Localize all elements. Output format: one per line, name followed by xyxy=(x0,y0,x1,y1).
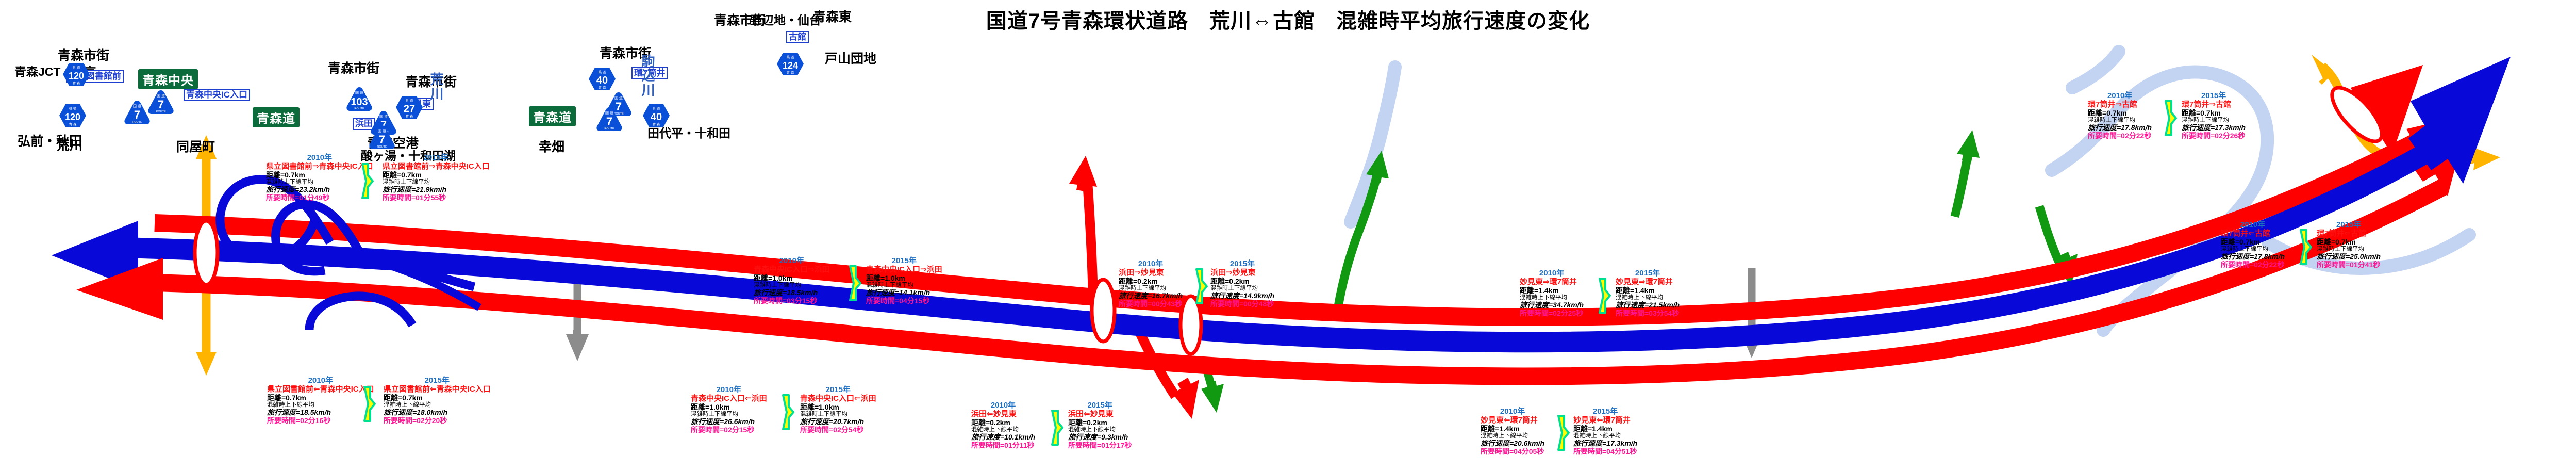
section-toshokan-to-chuo-ic-out-2010: 2010年県立図書館前⇒青森中央IC入口距離=0.7km混雑時上下線平均旅行速度… xyxy=(266,154,373,202)
svg-text:青 森: 青 森 xyxy=(599,85,606,90)
svg-text:40: 40 xyxy=(651,111,662,123)
section-hamada-to-myoken-2015: 2015年浜田⇒妙見東距離=0.2km混雑時上下線平均旅行速度=14.9km/h… xyxy=(1210,260,1274,308)
river-arakawa-label: 荒川 xyxy=(427,72,446,101)
travel-speed-value: 旅行速度=17.8km/h xyxy=(2221,253,2285,261)
year-label: 2015年 xyxy=(2182,92,2246,101)
section-name: 環7筒井⇐古館 xyxy=(2317,230,2381,238)
distance-value: 距離=0.2km xyxy=(1068,419,1132,427)
distance-value: 距離=0.2km xyxy=(1210,278,1274,286)
section-toshokan-from-chuo-ic-in-2010: 2010年県立図書館前⇐青森中央IC入口距離=0.7km混雑時上下線平均旅行速度… xyxy=(267,377,374,425)
shield-route-7-d: 国 道7ROUTE xyxy=(368,124,396,153)
distance-value: 距離=0.2km xyxy=(971,419,1035,427)
svg-text:県 道: 県 道 xyxy=(653,106,660,111)
travel-time-value: 所要時間=02分16秒 xyxy=(267,417,374,425)
travel-speed-value: 旅行速度=16.7km/h xyxy=(1119,292,1183,300)
dest-aomori-shigai-mid1: 青森市街 xyxy=(328,58,379,77)
svg-text:国 道: 国 道 xyxy=(605,110,613,115)
travel-speed-value: 旅行速度=18.5km/h xyxy=(267,409,374,417)
section-name: 妙見東⇐環7筒井 xyxy=(1481,416,1544,425)
distance-value: 距離=0.7km xyxy=(383,171,490,180)
section-myoken-from-kan7-2010: 2010年妙見東⇐環7筒井距離=1.4km混雑時上下線平均旅行速度=20.6km… xyxy=(1481,408,1544,456)
dest-doyacho: 同屋町 xyxy=(176,137,215,155)
year-label: 2015年 xyxy=(384,377,491,385)
travel-speed-value: 旅行速度=34.7km/h xyxy=(1520,301,1584,310)
section-name: 環7筒井⇐古館 xyxy=(2221,230,2285,238)
section-toshokan-to-chuo-ic-out-2015: 2015年県立図書館前⇒青森中央IC入口距離=0.7km混雑時上下線平均旅行速度… xyxy=(383,154,490,202)
travel-speed-value: 旅行速度=21.5km/h xyxy=(1616,301,1680,310)
distance-value: 距離=0.2km xyxy=(1119,278,1183,286)
svg-text:ROUTE: ROUTE xyxy=(132,121,142,124)
section-chuo-ic-from-hamada-transition-arrow-icon xyxy=(782,393,795,434)
section-hamada-from-myoken-transition-arrow-icon xyxy=(1051,409,1064,449)
travel-time-value: 所要時間=03分54秒 xyxy=(1616,310,1680,318)
section-chuo-ic-to-hamada-2015: 2015年青森中央IC入口⇒浜田距離=1.0km混雑時上下線平均旅行速度=14.… xyxy=(866,257,942,305)
section-kan7-to-furudate-2015: 2015年環7筒井⇒古館距離=0.7km混雑時上下線平均旅行速度=17.3km/… xyxy=(2182,92,2246,140)
dest-noheji-sendai: 野辺地・仙台 xyxy=(750,10,821,28)
dest-saihata: 幸畑 xyxy=(539,137,564,155)
section-name: 浜田⇐妙見東 xyxy=(1068,410,1132,419)
svg-text:ROUTE: ROUTE xyxy=(156,110,166,113)
distance-value: 距離=1.0km xyxy=(800,403,876,412)
year-label: 2015年 xyxy=(1210,260,1274,269)
section-name: 妙見東⇒環7筒井 xyxy=(1616,278,1680,287)
travel-time-value: 所要時間=01分17秒 xyxy=(1068,442,1132,450)
svg-text:7: 7 xyxy=(158,98,164,111)
svg-text:7: 7 xyxy=(379,133,385,146)
distance-value: 距離=0.7km xyxy=(2317,238,2381,247)
year-label: 2015年 xyxy=(383,154,490,163)
travel-time-value: 所要時間=03分15秒 xyxy=(754,297,830,305)
travel-time-value: 所要時間=01分55秒 xyxy=(383,194,490,202)
section-name: 妙見東⇐環7筒井 xyxy=(1573,416,1637,425)
section-chuo-ic-to-hamada-transition-arrow-icon xyxy=(849,264,862,305)
distance-value: 距離=0.7km xyxy=(266,171,373,180)
travel-speed-value: 旅行速度=21.9km/h xyxy=(383,186,490,194)
section-myoken-to-kan7-transition-arrow-icon xyxy=(1598,277,1611,317)
section-name: 浜田⇒妙見東 xyxy=(1119,269,1183,278)
distance-value: 距離=1.4km xyxy=(1616,287,1680,295)
travel-time-value: 所要時間=01分11秒 xyxy=(971,442,1035,450)
svg-text:国 道: 国 道 xyxy=(378,128,386,133)
year-label: 2010年 xyxy=(691,386,767,395)
section-name: 青森中央IC入口⇒浜田 xyxy=(754,266,830,274)
shield-route-7-b: 国 道7ROUTE xyxy=(146,89,175,118)
section-hamada-from-myoken-2015: 2015年浜田⇐妙見東距離=0.2km混雑時上下線平均旅行速度=9.3km/h所… xyxy=(1068,401,1132,449)
distance-value: 距離=1.0km xyxy=(866,274,942,283)
travel-time-value: 所要時間=02分20秒 xyxy=(384,417,491,425)
distance-value: 距離=1.4km xyxy=(1573,425,1637,433)
section-name: 妙見東⇒環7筒井 xyxy=(1520,278,1584,287)
section-chuo-ic-to-hamada-2010: 2010年青森中央IC入口⇒浜田距離=1.0km混雑時上下線平均旅行速度=18.… xyxy=(754,257,830,305)
year-label: 2015年 xyxy=(1573,408,1637,416)
section-name: 浜田⇒妙見東 xyxy=(1210,269,1274,278)
diagram-canvas: 国道7号青森環状道路 荒川⇔古館 混雑時平均旅行速度の変化 青森市街青森JCT・… xyxy=(0,0,2576,471)
year-label: 2010年 xyxy=(2088,92,2152,101)
travel-speed-value: 旅行速度=20.6km/h xyxy=(1481,440,1544,448)
year-label: 2010年 xyxy=(1119,260,1183,269)
svg-text:国 道: 国 道 xyxy=(157,93,165,98)
badge-aomori-do-2: 青森道 xyxy=(529,106,576,126)
section-chuo-ic-from-hamada-2015: 2015年青森中央IC入口⇐浜田距離=1.0km混雑時上下線平均旅行速度=20.… xyxy=(800,386,876,434)
section-kan7-from-furudate-transition-arrow-icon xyxy=(2299,228,2313,269)
distance-value: 距離=0.7km xyxy=(2182,109,2246,118)
section-name: 環7筒井⇒古館 xyxy=(2182,101,2246,109)
section-name: 環7筒井⇒古館 xyxy=(2088,101,2152,109)
river-komagome-label: 駒込川 xyxy=(638,54,657,98)
shield-route-120-lower: 県 道120青 森 xyxy=(58,102,87,132)
svg-text:7: 7 xyxy=(134,108,140,121)
travel-time-value: 所要時間=01分41秒 xyxy=(2317,261,2381,269)
travel-speed-value: 旅行速度=14.9km/h xyxy=(1210,292,1274,300)
badge-aomori-chuo: 青森中央 xyxy=(138,69,198,89)
section-name: 青森中央IC入口⇐浜田 xyxy=(691,395,767,403)
section-chuo-ic-from-hamada-2010: 2010年青森中央IC入口⇐浜田距離=1.0km混雑時上下線平均旅行速度=26.… xyxy=(691,386,767,434)
page-title: 国道7号青森環状道路 荒川⇔古館 混雑時平均旅行速度の変化 xyxy=(0,4,2576,34)
travel-time-value: 所要時間=02分22秒 xyxy=(2088,132,2152,140)
svg-text:県 道: 県 道 xyxy=(73,65,80,70)
section-hamada-from-myoken-2010: 2010年浜田⇐妙見東距離=0.2km混雑時上下線平均旅行速度=10.1km/h… xyxy=(971,401,1035,449)
svg-text:40: 40 xyxy=(596,75,608,86)
year-label: 2010年 xyxy=(266,154,373,163)
svg-text:青 森: 青 森 xyxy=(653,122,660,126)
travel-time-value: 所要時間=01分49秒 xyxy=(266,194,373,202)
svg-text:ROUTE: ROUTE xyxy=(354,107,364,110)
distance-value: 距離=0.7km xyxy=(2221,238,2285,247)
travel-time-value: 所要時間=04分05秒 xyxy=(1481,448,1544,456)
svg-text:青 森: 青 森 xyxy=(787,70,794,75)
section-name: 浜田⇐妙見東 xyxy=(971,410,1035,419)
svg-text:県 道: 県 道 xyxy=(69,106,77,111)
svg-text:県 道: 県 道 xyxy=(406,98,413,103)
svg-text:27: 27 xyxy=(404,103,415,115)
year-label: 2015年 xyxy=(800,386,876,395)
travel-speed-value: 旅行速度=9.3km/h xyxy=(1068,433,1132,442)
svg-text:103: 103 xyxy=(351,96,368,108)
svg-text:青 森: 青 森 xyxy=(69,122,77,126)
travel-speed-value: 旅行速度=25.0km/h xyxy=(2317,253,2381,261)
section-myoken-from-kan7-2015: 2015年妙見東⇐環7筒井距離=1.4km混雑時上下線平均旅行速度=17.3km… xyxy=(1573,408,1637,456)
section-hamada-to-myoken-transition-arrow-icon xyxy=(1195,267,1208,308)
travel-speed-value: 旅行速度=23.2km/h xyxy=(266,186,373,194)
travel-speed-value: 旅行速度=20.7km/h xyxy=(800,418,876,426)
svg-text:ROUTE: ROUTE xyxy=(604,127,614,131)
travel-time-value: 所要時間=00分48秒 xyxy=(1210,300,1274,308)
travel-time-value: 所要時間=04分15秒 xyxy=(866,297,942,305)
travel-time-value: 所要時間=02分26秒 xyxy=(2182,132,2246,140)
svg-text:青 森: 青 森 xyxy=(406,113,413,118)
svg-text:国 道: 国 道 xyxy=(133,104,141,108)
svg-text:県 道: 県 道 xyxy=(787,55,794,59)
section-kan7-from-furudate-2015: 2015年環7筒井⇐古館距離=0.7km混雑時上下線平均旅行速度=25.0km/… xyxy=(2317,221,2381,269)
travel-speed-value: 旅行速度=14.1km/h xyxy=(866,289,942,297)
shield-route-40-a: 県 道40青 森 xyxy=(588,66,617,95)
section-myoken-to-kan7-2015: 2015年妙見東⇒環7筒井距離=1.4km混雑時上下線平均旅行速度=21.5km… xyxy=(1616,269,1680,317)
travel-speed-value: 旅行速度=17.3km/h xyxy=(2182,124,2246,132)
section-kan7-to-furudate-transition-arrow-icon xyxy=(2164,99,2178,140)
travel-time-value: 所要時間=00分43秒 xyxy=(1119,300,1183,308)
year-label: 2010年 xyxy=(1520,269,1584,278)
svg-text:120: 120 xyxy=(69,71,84,81)
section-name: 県立図書館前⇒青森中央IC入口 xyxy=(266,163,373,171)
distance-value: 距離=0.7km xyxy=(384,394,491,402)
section-name: 県立図書館前⇐青森中央IC入口 xyxy=(267,385,374,394)
section-name: 青森中央IC入口⇐浜田 xyxy=(800,395,876,403)
travel-time-value: 所要時間=02分25秒 xyxy=(1520,310,1584,318)
distance-value: 距離=1.4km xyxy=(1520,287,1584,295)
travel-speed-value: 旅行速度=10.1km/h xyxy=(971,433,1035,442)
distance-value: 距離=0.7km xyxy=(267,394,374,402)
year-label: 2010年 xyxy=(1481,408,1544,416)
svg-text:124: 124 xyxy=(783,60,798,71)
plate-furudate: 古館 xyxy=(786,31,809,43)
section-myoken-from-kan7-transition-arrow-icon xyxy=(1557,414,1570,454)
section-kan7-from-furudate-2010: 2010年環7筒井⇐古館距離=0.7km混雑時上下線平均旅行速度=17.8km/… xyxy=(2221,221,2285,269)
section-hamada-to-myoken-2010: 2010年浜田⇒妙見東距離=0.2km混雑時上下線平均旅行速度=16.7km/h… xyxy=(1119,260,1183,308)
shield-route-120-upper: 県 道120青 森 xyxy=(62,61,91,90)
svg-text:国 道: 国 道 xyxy=(379,114,388,119)
svg-text:ROUTE: ROUTE xyxy=(377,145,387,149)
section-name: 県立図書館前⇒青森中央IC入口 xyxy=(383,163,490,171)
svg-text:国 道: 国 道 xyxy=(355,90,363,95)
travel-speed-value: 旅行速度=17.3km/h xyxy=(1573,440,1637,448)
year-label: 2015年 xyxy=(1068,401,1132,410)
shield-route-27: 県 道27青 森 xyxy=(395,94,424,123)
badge-aomori-do-1: 青森道 xyxy=(253,107,300,127)
travel-speed-value: 旅行速度=26.6km/h xyxy=(691,418,767,426)
svg-text:青 森: 青 森 xyxy=(73,80,80,85)
year-label: 2010年 xyxy=(971,401,1035,410)
section-name: 青森中央IC入口⇒浜田 xyxy=(866,266,942,274)
year-label: 2010年 xyxy=(267,377,374,385)
svg-text:120: 120 xyxy=(65,112,80,122)
travel-time-value: 所要時間=02分15秒 xyxy=(691,426,767,434)
year-label: 2015年 xyxy=(866,257,942,266)
travel-time-value: 所要時間=04分51秒 xyxy=(1573,448,1637,456)
shield-route-7-f: 国 道7ROUTE xyxy=(595,106,624,135)
section-kan7-to-furudate-2010: 2010年環7筒井⇒古館距離=0.7km混雑時上下線平均旅行速度=17.8km/… xyxy=(2088,92,2152,140)
distance-value: 距離=1.4km xyxy=(1481,425,1544,433)
dest-arakawa: 荒川 xyxy=(57,135,82,154)
section-name: 県立図書館前⇐青森中央IC入口 xyxy=(384,385,491,394)
distance-value: 距離=1.0km xyxy=(691,403,767,412)
year-label: 2015年 xyxy=(1616,269,1680,278)
travel-time-value: 所要時間=02分22秒 xyxy=(2221,261,2285,269)
dest-aomori-higashi: 青森東 xyxy=(813,7,852,25)
section-toshokan-from-chuo-ic-in-2015: 2015年県立図書館前⇐青森中央IC入口距離=0.7km混雑時上下線平均旅行速度… xyxy=(384,377,491,425)
section-toshokan-to-chuo-ic-out-transition-arrow-icon xyxy=(361,162,374,203)
svg-text:県 道: 県 道 xyxy=(599,70,606,74)
section-myoken-to-kan7-2010: 2010年妙見東⇒環7筒井距離=1.4km混雑時上下線平均旅行速度=34.7km… xyxy=(1520,269,1584,317)
year-label: 2015年 xyxy=(2317,221,2381,230)
travel-speed-value: 旅行速度=17.8km/h xyxy=(2088,124,2152,132)
travel-time-value: 所要時間=02分54秒 xyxy=(800,426,876,434)
plate-aomori-chuo-ic-iriguchi: 青森中央IC入口 xyxy=(184,89,250,101)
travel-speed-value: 旅行速度=18.0km/h xyxy=(384,409,491,417)
distance-value: 距離=0.7km xyxy=(2088,109,2152,118)
section-toshokan-from-chuo-ic-in-transition-arrow-icon xyxy=(363,385,376,426)
year-label: 2010年 xyxy=(2221,221,2285,230)
svg-text:7: 7 xyxy=(606,115,612,128)
travel-speed-value: 旅行速度=18.5km/h xyxy=(754,289,830,297)
svg-text:国 道: 国 道 xyxy=(614,95,623,100)
dest-toyama-danchi: 戸山団地 xyxy=(825,48,876,67)
distance-value: 距離=1.0km xyxy=(754,274,830,283)
shield-route-40-b: 県 道40青 森 xyxy=(642,102,671,132)
shield-route-124: 県 道124青 森 xyxy=(776,51,805,80)
year-label: 2010年 xyxy=(754,257,830,266)
